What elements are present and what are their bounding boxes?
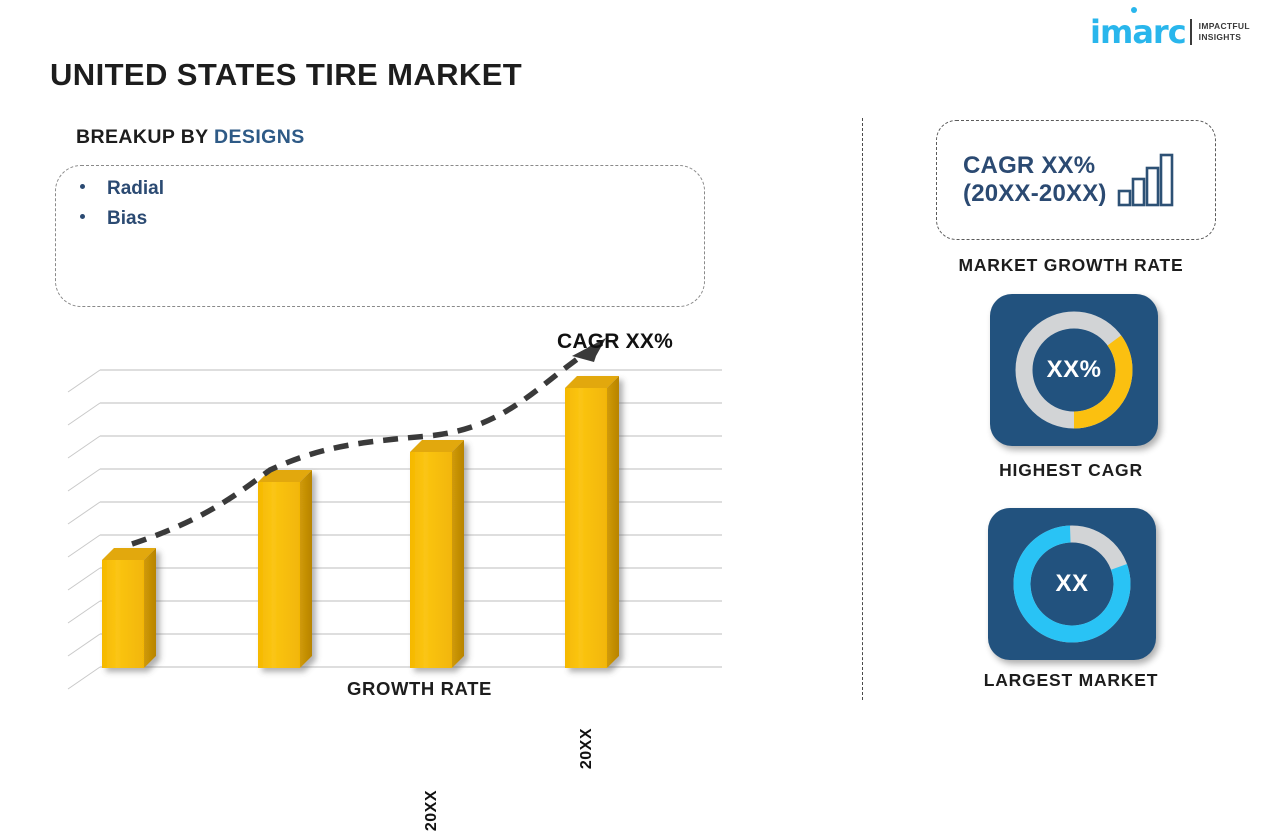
market-growth-rate-value: CAGR XX% (20XX-20XX) [963,152,1107,208]
logo-tagline-line1: IMPACTFUL [1199,21,1250,32]
logo-tagline-line2: INSIGHTS [1199,32,1250,43]
page-title: UNITED STATES TIRE MARKET [50,57,522,93]
breakup-list-box: Radial Bias [55,165,705,307]
chart-trend-line [132,348,592,544]
list-item: Bias [80,208,147,230]
bar-value-label: 20XX [423,790,441,831]
chart-bar [258,470,312,668]
chart-svg [60,330,760,700]
growth-bar-chart: 20XX 20XX [60,330,760,700]
logo-tagline: IMPACTFUL INSIGHTS [1199,21,1250,44]
chart-bar [102,548,156,668]
slide-canvas: imarc IMPACTFUL INSIGHTS UNITED STATES T… [0,0,1280,720]
chart-bar [410,440,464,668]
largest-market-value: XX [988,508,1156,660]
cagr-line-2: (20XX-20XX) [963,180,1107,208]
list-item-label: Radial [107,178,164,200]
logo-dot-icon [1131,7,1137,13]
subtitle-prefix: BREAKUP BY [76,126,214,148]
highest-cagr-value: XX% [990,294,1158,446]
largest-market-tile: XX [988,508,1156,660]
logo-wordmark: imarc [1090,16,1186,48]
list-item: Radial [80,178,164,200]
list-item-label: Bias [107,208,147,230]
chart-bar [565,376,619,668]
bar-value-label: 20XX [578,728,596,769]
market-growth-rate-label: MARKET GROWTH RATE [862,255,1280,276]
chart-cagr-annotation: CAGR XX% [557,330,673,354]
highest-cagr-tile: XX% [990,294,1158,446]
highest-cagr-label: HIGHEST CAGR [862,460,1280,481]
logo-divider [1190,19,1192,45]
chart-depth-edges [68,370,100,689]
section-subtitle: BREAKUP BY DESIGNS [76,126,305,149]
largest-market-label: LARGEST MARKET [862,670,1280,691]
chart-x-axis-label: GROWTH RATE [347,678,492,700]
imarc-logo: imarc IMPACTFUL INSIGHTS [1090,14,1265,50]
subtitle-accent: DESIGNS [214,126,305,148]
cagr-line-1: CAGR XX% [963,152,1107,180]
panel-divider [862,118,863,700]
bullet-dot-icon [80,214,85,219]
bar-chart-icon [1115,149,1177,216]
market-growth-rate-box: CAGR XX% (20XX-20XX) [936,120,1216,240]
bullet-dot-icon [80,184,85,189]
